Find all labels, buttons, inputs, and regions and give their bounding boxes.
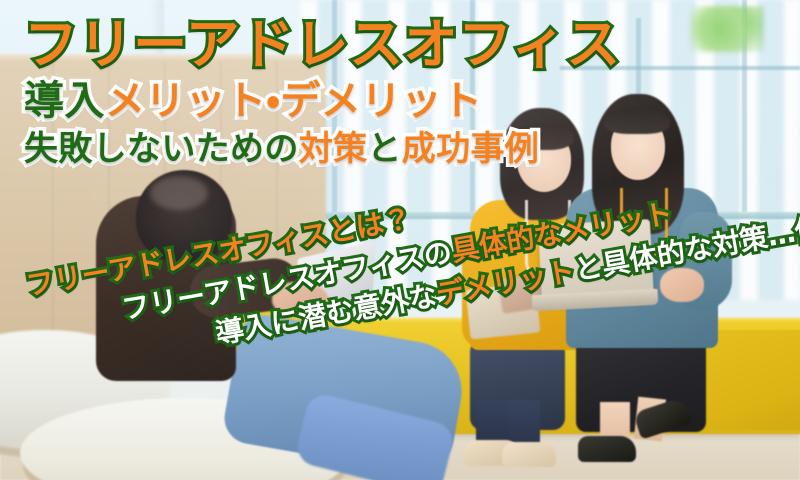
headline-block: フリーアドレスオフィス 導入メリット・デメリット 失敗しないための対策と成功事例 [0, 0, 800, 166]
tagline-part-1: 失敗しないための [24, 129, 299, 169]
woman-blue-shoe-l [578, 436, 636, 462]
subtitle-part-1: 導入 [24, 78, 105, 124]
headline-subtitle: 導入メリット・デメリット [24, 81, 800, 121]
tagline-part-3: と [367, 129, 401, 169]
woman-yellow-shoe-r [502, 442, 556, 467]
man-hair-highlight [150, 176, 208, 210]
banner: フリーアドレスオフィス 導入メリット・デメリット 失敗しないための対策と成功事例… [0, 0, 800, 480]
tagline-part-2: 対策 [299, 129, 368, 169]
subtitle-part-2: メリット・デメリット [105, 78, 483, 124]
tagline-part-4: 成功事例 [402, 129, 539, 169]
page-title: フリーアドレスオフィス [24, 18, 800, 72]
